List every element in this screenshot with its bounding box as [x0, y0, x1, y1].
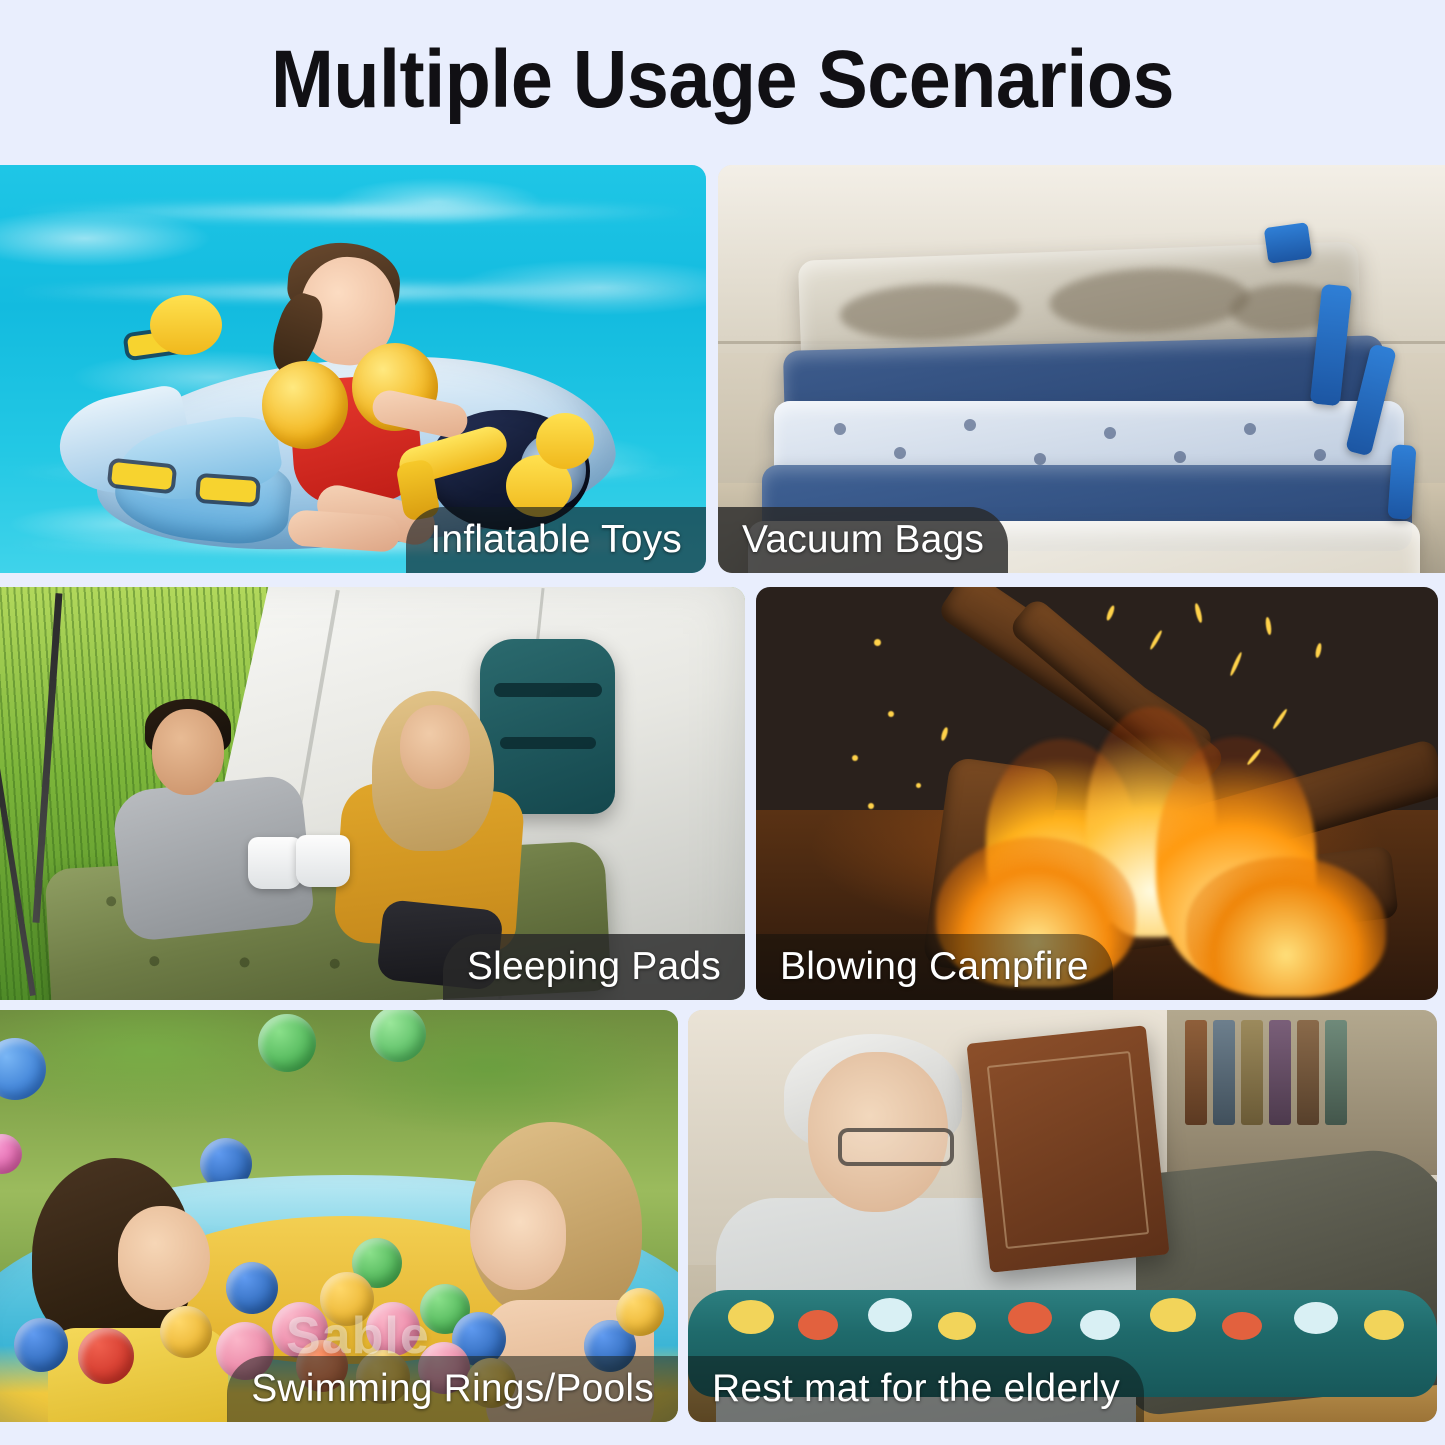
panel-sleeping-pads[interactable]: Sleeping Pads: [0, 587, 745, 1000]
mug-left: [248, 837, 302, 889]
mug-right: [296, 835, 350, 887]
backpack: [480, 639, 615, 814]
scene-camping: Sleeping Pads: [0, 587, 745, 1000]
child-left-face: [118, 1206, 210, 1310]
label-text: Blowing Campfire: [780, 945, 1089, 989]
panel-blowing-campfire[interactable]: Blowing Campfire: [756, 587, 1438, 1000]
label-blowing-campfire: Blowing Campfire: [756, 934, 1113, 1000]
scene-elderly-reading: Rest mat for the elderly: [688, 1010, 1437, 1422]
scene-ball-pit: Sable Swimming Rings/Pools: [0, 1010, 678, 1422]
label-swimming-rings-pools: Swimming Rings/Pools: [227, 1356, 678, 1422]
label-rest-mat-elderly: Rest mat for the elderly: [688, 1356, 1144, 1422]
panel-inflatable-toys[interactable]: Inflatable Toys: [0, 165, 706, 573]
vacuum-valve-4: [1387, 444, 1416, 519]
panel-rest-mat-elderly[interactable]: Rest mat for the elderly: [688, 1010, 1437, 1422]
label-sleeping-pads: Sleeping Pads: [443, 934, 745, 1000]
woman-head: [400, 705, 470, 789]
scene-vacuum-bags: Vacuum Bags: [718, 165, 1445, 573]
man-head: [152, 709, 224, 795]
bookshelf: [1167, 1010, 1437, 1175]
scenario-grid: Inflatable Toys: [0, 165, 1445, 1445]
panel-swimming-rings-pools[interactable]: Sable Swimming Rings/Pools: [0, 1010, 678, 1422]
vacuum-valve-1: [1264, 222, 1313, 264]
scene-pool: Inflatable Toys: [0, 165, 706, 573]
page-title: Multiple Usage Scenarios: [58, 0, 1387, 160]
label-text: Swimming Rings/Pools: [251, 1367, 654, 1411]
label-text: Vacuum Bags: [742, 518, 984, 562]
label-text: Sleeping Pads: [467, 945, 721, 989]
panel-vacuum-bags[interactable]: Vacuum Bags: [718, 165, 1445, 573]
ball-air-2: [258, 1014, 316, 1072]
child-right-face: [470, 1180, 566, 1290]
label-vacuum-bags: Vacuum Bags: [718, 507, 1008, 573]
glasses-icon: [838, 1128, 954, 1166]
arm-float-left: [262, 361, 348, 449]
scene-campfire: Blowing Campfire: [756, 587, 1438, 1000]
label-text: Rest mat for the elderly: [712, 1367, 1120, 1411]
label-inflatable-toys: Inflatable Toys: [406, 507, 706, 573]
label-text: Inflatable Toys: [430, 518, 682, 562]
